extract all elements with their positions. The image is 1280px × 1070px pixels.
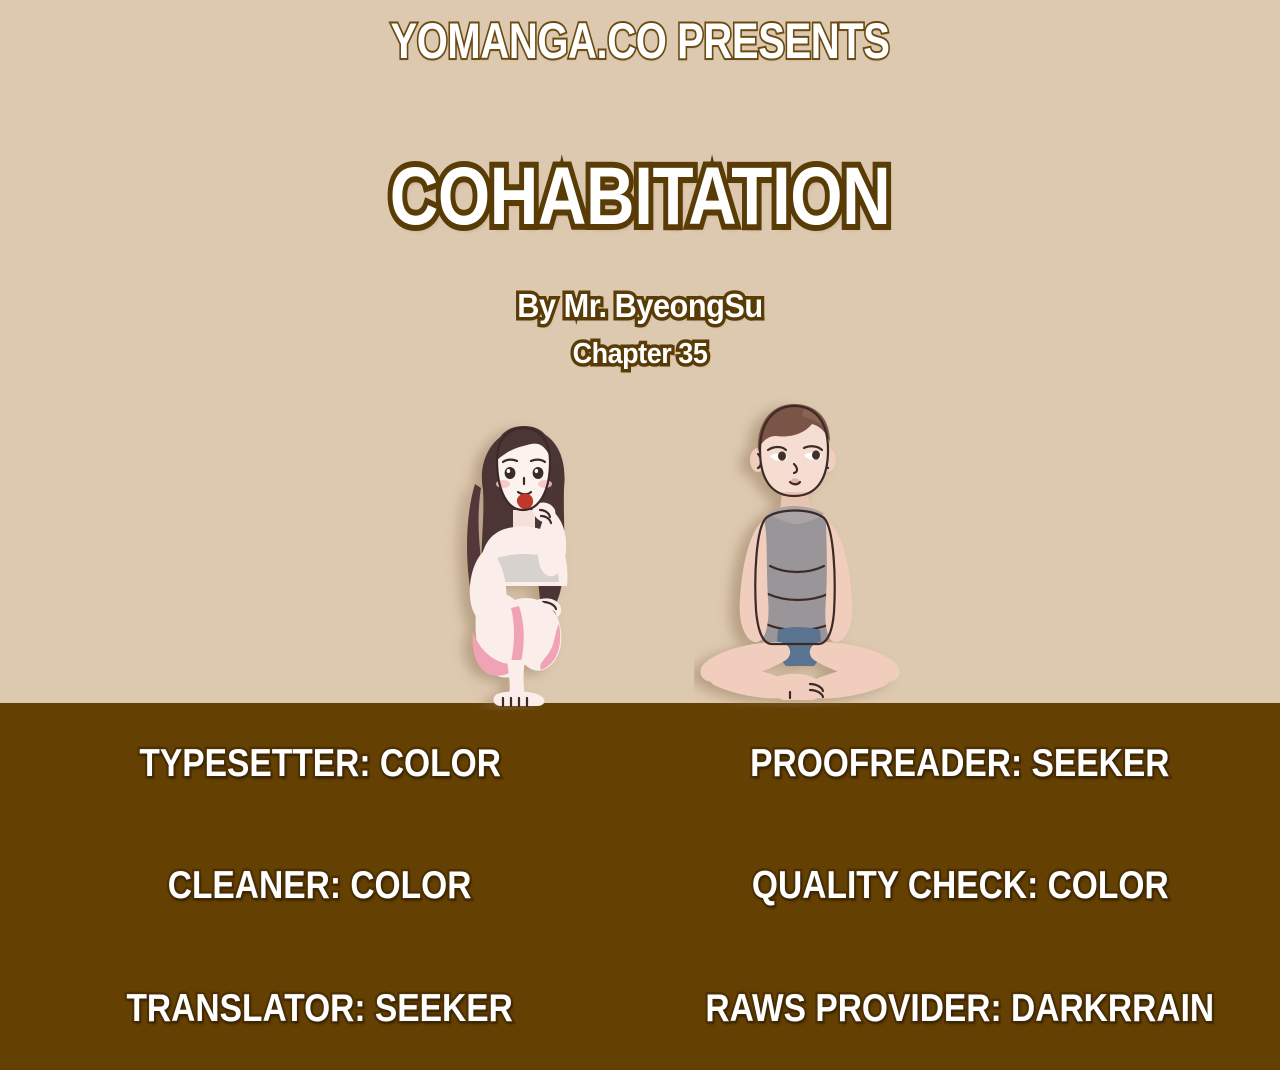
credit-raws-provider: RAWS PROVIDER: DARKRRAIN xyxy=(706,986,1215,1032)
female-character-illustration xyxy=(437,418,607,710)
chapter-cover-page: YOMANGA.CO PRESENTS COHABITATION By Mr. … xyxy=(0,0,1280,1070)
credit-translator: TRANSLATOR: SEEKER xyxy=(127,986,513,1032)
credit-quality-check: QUALITY CHECK: COLOR xyxy=(752,863,1169,909)
male-character-illustration xyxy=(694,398,910,708)
credit-cleaner: CLEANER: COLOR xyxy=(168,863,472,909)
page-title: COHABITATION xyxy=(115,150,1165,244)
chapter-label: Chapter 35 xyxy=(45,336,1235,372)
author-byline: By Mr. ByeongSu xyxy=(45,286,1235,326)
credit-proofreader: PROOFREADER: SEEKER xyxy=(750,741,1169,787)
credit-typesetter: TYPESETTER: COLOR xyxy=(139,741,501,787)
scanlation-group-presents-text: YOMANGA.CO PRESENTS xyxy=(128,12,1152,70)
credits-grid: TYPESETTER: COLOR PROOFREADER: SEEKER CL… xyxy=(0,703,1280,1070)
